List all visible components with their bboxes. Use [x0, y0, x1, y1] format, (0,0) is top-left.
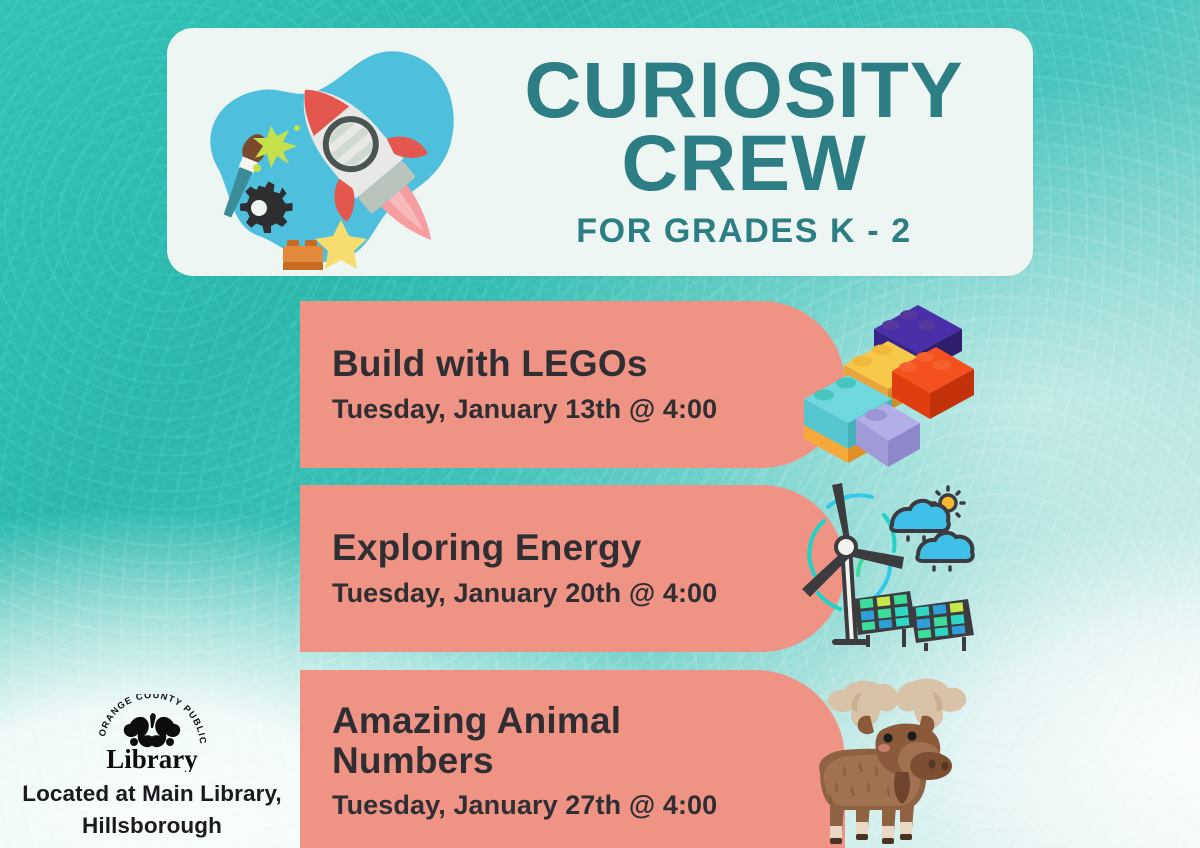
event-details: Build with LEGOs Tuesday, January 13th @…: [300, 344, 840, 424]
event-title: Amazing Animal Numbers: [332, 701, 840, 779]
footer-block: ORANGE COUNTY PUBLIC Library Located at …: [8, 694, 296, 842]
location-line-2: Hillsborough: [13, 810, 291, 842]
header-card: CURIOSITY CREW FOR GRADES K - 2: [167, 28, 1033, 276]
event-title: Exploring Energy: [332, 528, 840, 567]
logo-wordmark: Library: [106, 744, 198, 772]
location-line-1: Located at Main Library,: [13, 778, 291, 810]
event-title-line-2: Numbers: [332, 741, 840, 780]
event-date: Tuesday, January 27th @ 4:00: [332, 790, 840, 821]
event-title: Build with LEGOs: [332, 344, 840, 383]
event-row: Build with LEGOs Tuesday, January 13th @…: [300, 301, 845, 468]
event-row: Exploring Energy Tuesday, January 20th @…: [300, 485, 845, 652]
header-text-block: CURIOSITY CREW FOR GRADES K - 2: [467, 28, 1021, 276]
logo-flourish-mark: [124, 713, 180, 747]
event-date: Tuesday, January 13th @ 4:00: [332, 394, 840, 425]
event-date: Tuesday, January 20th @ 4:00: [332, 578, 840, 609]
event-title-line-1: Amazing Animal: [332, 701, 840, 740]
orange-county-public-library-logo: ORANGE COUNTY PUBLIC Library: [90, 694, 214, 772]
page-title-line-2: CREW: [621, 130, 866, 196]
event-row: Amazing Animal Numbers Tuesday, January …: [300, 670, 845, 848]
event-details: Exploring Energy Tuesday, January 20th @…: [300, 528, 840, 608]
event-details: Amazing Animal Numbers Tuesday, January …: [300, 697, 840, 820]
rocket-blob-illustration: [179, 38, 479, 270]
location-text: Located at Main Library, Hillsborough: [13, 778, 291, 842]
page-title-line-1: CURIOSITY: [524, 57, 963, 123]
page-subtitle: FOR GRADES K - 2: [576, 212, 911, 251]
poster-canvas: CURIOSITY CREW FOR GRADES K - 2 Build wi…: [0, 0, 1200, 848]
